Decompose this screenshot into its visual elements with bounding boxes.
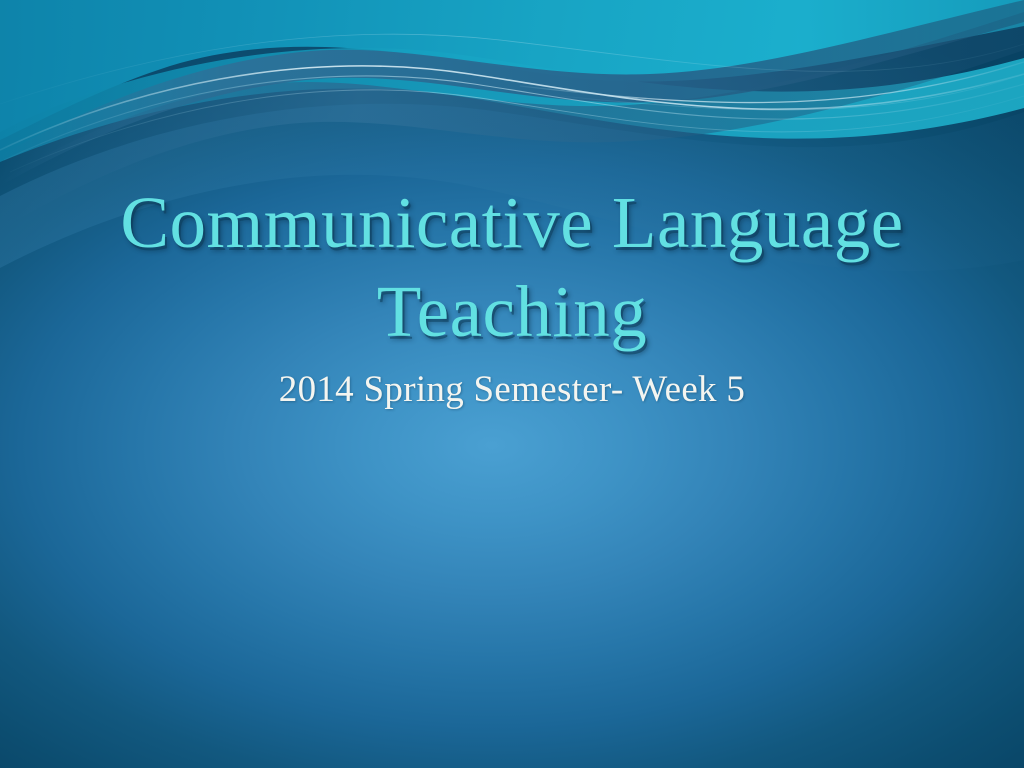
slide-subtitle: 2014 Spring Semester- Week 5 — [62, 368, 962, 412]
slide-text-layer: Communicative Language Teaching 2014 Spr… — [0, 0, 1024, 768]
title-slide: Communicative Language Teaching 2014 Spr… — [0, 0, 1024, 768]
page-title: Communicative Language Teaching — [62, 178, 962, 356]
